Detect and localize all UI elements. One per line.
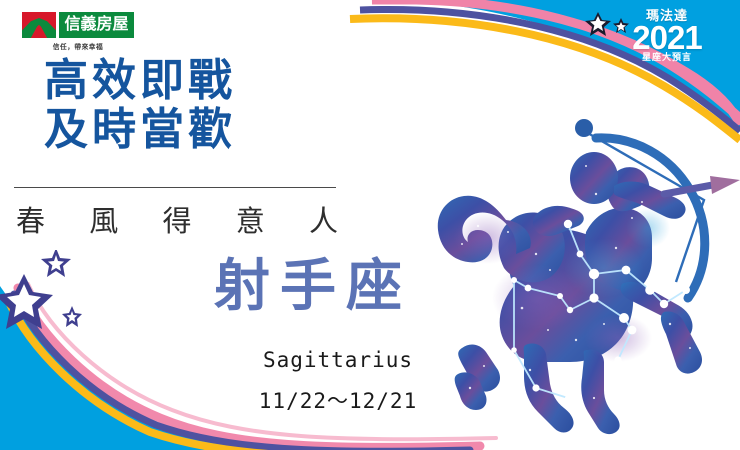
logo-row: 信義房屋 xyxy=(22,12,134,38)
campaign-badge: 瑪法達 2021 星座大預言 xyxy=(620,8,714,63)
star-icon-bottom-small xyxy=(62,306,82,327)
subtitle-char-2: 風 xyxy=(89,198,118,240)
star-icon-badge-large-inner xyxy=(590,16,606,31)
sagittarius-illustration xyxy=(418,98,740,444)
company-logo[interactable]: 信義房屋 信任，帶來幸福 xyxy=(22,12,134,52)
divider xyxy=(14,187,336,188)
subtitle-char-5: 人 xyxy=(309,198,338,240)
yellow-stripe-bottom xyxy=(8,300,460,450)
badge-year: 2021 xyxy=(620,23,714,53)
headline-line-1: 高效即戰 xyxy=(44,56,236,105)
star-icon-bottom-mid xyxy=(41,250,71,277)
subtitle-char-1: 春 xyxy=(16,198,45,240)
headline: 高效即戰 及時當歡 xyxy=(44,56,236,155)
purple-stripe-bottom xyxy=(14,294,470,450)
star-icon-bottom-small-inner xyxy=(67,311,78,322)
horse-hind-leg-right xyxy=(581,350,619,434)
star-icon-bottom-large xyxy=(0,274,53,329)
headline-line-2: 及時當歡 xyxy=(44,105,236,154)
arrowhead xyxy=(710,176,740,194)
star-icon-badge-large xyxy=(585,12,611,36)
house-mountain-icon xyxy=(22,12,56,38)
subtitle-char-3: 得 xyxy=(162,198,191,240)
star-icon-bottom-large-inner xyxy=(7,284,41,317)
zodiac-date-range: 11/22～12/21 xyxy=(248,385,428,415)
star-icon-bottom-mid-inner xyxy=(48,255,64,271)
arrow-nock xyxy=(575,119,593,137)
logo-tagline: 信任，帶來幸福 xyxy=(24,42,132,52)
poster-canvas: 信義房屋 信任，帶來幸福 高效即戰 及時當歡 春 風 得 意 人 射手座 Sag… xyxy=(0,0,740,450)
zodiac-name-en: Sagittarius xyxy=(248,348,428,372)
sagittarius-svg xyxy=(418,98,740,444)
logo-name: 信義房屋 xyxy=(64,17,128,33)
arrow-shaft xyxy=(664,184,718,194)
subtitle-char-4: 意 xyxy=(236,198,265,240)
subtitle: 春 風 得 意 人 xyxy=(16,198,338,240)
rider-head xyxy=(570,152,618,204)
zodiac-name-zh: 射手座 xyxy=(214,258,412,314)
logo-wordmark: 信義房屋 xyxy=(59,12,134,38)
horse-front-leg-lower xyxy=(661,311,702,373)
